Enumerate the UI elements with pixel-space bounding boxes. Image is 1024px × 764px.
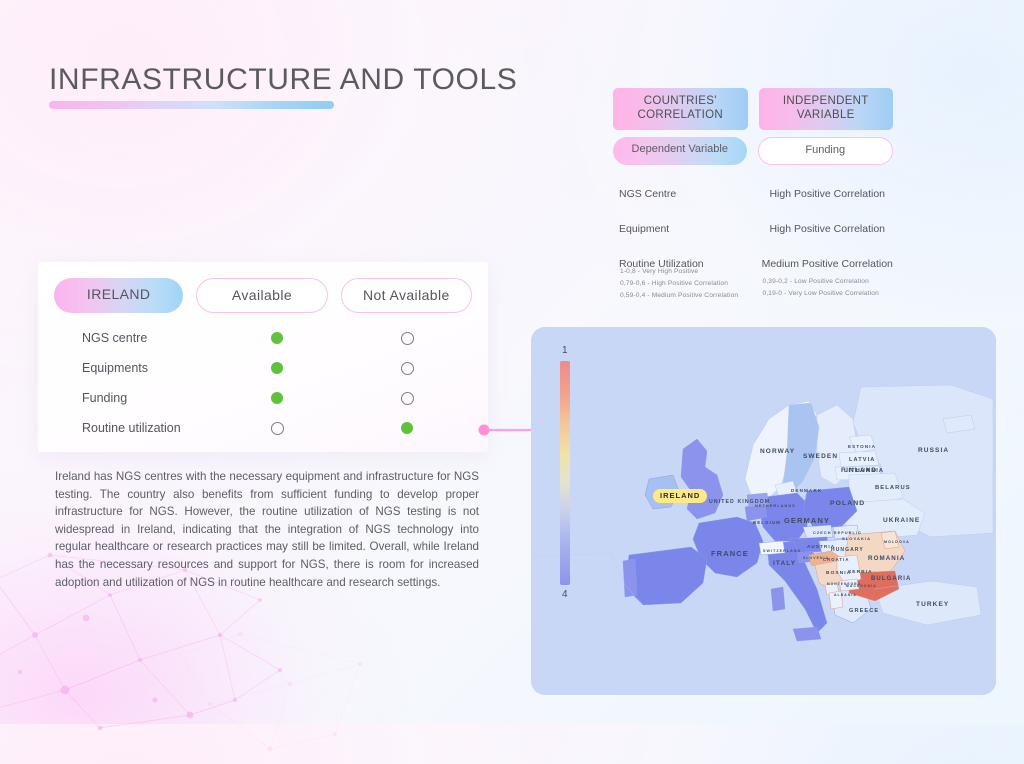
map-label-russia: RUSSIA	[918, 447, 949, 454]
status-dot-filled	[271, 362, 283, 374]
correlation-legend-left-column: 1-0,8 - Very High Positive 0,79-0,6 - Hi…	[620, 266, 753, 303]
status-dot-filled	[401, 422, 413, 434]
correlation-legend-right-column: 0,39-0,2 - Low Positive Correlation 0,19…	[763, 266, 896, 303]
row-label: Funding	[54, 391, 212, 405]
row-dependent-label: Equipment	[613, 223, 751, 235]
map-label-netherlands: NETHERLANDS	[755, 504, 796, 508]
map-label-romania: ROMANIA	[868, 555, 905, 562]
row-label: Routine utilization	[54, 421, 212, 435]
map-label-estonia: ESTONIA	[848, 444, 876, 449]
cell-available	[212, 362, 342, 374]
map-label-greece: GREECE	[849, 608, 879, 614]
map-label-belgium: BELGIUM	[753, 520, 781, 525]
table-row: NGS centre	[54, 323, 472, 353]
table-row: NGS Centre High Positive Correlation	[613, 176, 893, 211]
status-dot-empty	[401, 392, 414, 405]
map-label-switzerland: SWITZERLAND	[763, 549, 801, 553]
correlation-table-subheader: Dependent Variable Funding	[613, 137, 893, 165]
row-independent-value: High Positive Correlation	[762, 188, 894, 201]
table-row: Routine utilization	[54, 413, 472, 443]
map-label-italy: ITALY	[773, 560, 796, 567]
subheader-dependent-variable: Dependent Variable	[613, 137, 747, 165]
legend-item: 0,19-0 - Very Low Positive Correlation	[763, 288, 896, 300]
cell-available	[212, 392, 342, 404]
ireland-card-header: IRELAND Available Not Available	[38, 262, 488, 313]
map-label-belarus: BELARUS	[875, 485, 911, 491]
map-highlight-ireland[interactable]: IRELAND	[653, 489, 707, 503]
map-label-sweden: SWEDEN	[803, 453, 838, 460]
map-label-bulgaria: BULGARIA	[871, 576, 911, 582]
cell-not-available	[342, 362, 472, 375]
europe-map[interactable]	[531, 327, 996, 695]
header-independent-variable: INDEPENDENT VARIABLE	[759, 88, 894, 130]
map-label-albania: ALBANIA	[834, 593, 857, 597]
map-label-latvia: LATVIA	[849, 457, 875, 463]
map-label-turkey: TURKEY	[916, 601, 949, 608]
map-label-lithuania: LITHUANIA	[844, 468, 884, 474]
map-label-denmark: DENMARK	[791, 488, 822, 493]
map-label-poland: POLAND	[830, 500, 865, 507]
description-paragraph: Ireland has NGS centres with the necessa…	[55, 468, 479, 591]
status-dot-filled	[271, 392, 283, 404]
row-dependent-label: NGS Centre	[613, 188, 751, 200]
map-label-croatia: CROATIA	[823, 557, 849, 562]
header-countries-correlation: COUNTRIES' CORRELATION	[613, 88, 748, 130]
cell-not-available	[342, 392, 472, 405]
colorbar-max-label: 1	[562, 345, 568, 356]
map-label-ukraine: UKRAINE	[883, 517, 920, 524]
map-label-moldova: MOLDOVA	[884, 540, 910, 544]
map-label-czech-republic: CZECH REPUBLIC	[813, 531, 862, 535]
map-label-france: FRANCE	[711, 549, 749, 558]
status-dot-empty	[401, 362, 414, 375]
table-row: Equipment High Positive Correlation	[613, 211, 893, 246]
page-title: INFRASTRUCTURE AND TOOLS	[49, 63, 517, 97]
header-available: Available	[196, 278, 327, 313]
header-not-available: Not Available	[341, 278, 472, 313]
map-label-serbia: SERBIA	[848, 570, 873, 575]
colorbar-min-label: 4	[562, 589, 568, 600]
subheader-funding: Funding	[758, 137, 894, 165]
correlation-table-header: COUNTRIES' CORRELATION INDEPENDENT VARIA…	[613, 88, 893, 130]
row-label: NGS centre	[54, 331, 212, 345]
status-dot-filled	[271, 332, 283, 344]
legend-item: 0,59-0,4 - Medium Positive Correlation	[620, 290, 753, 302]
legend-item: 0,79-0,6 - High Positive Correlation	[620, 278, 753, 290]
map-label-slovakia: SLOVAKIA	[842, 536, 871, 541]
status-dot-empty	[271, 422, 284, 435]
europe-map-panel[interactable]: 1 4 IRELAND SWEDENFINLANDNORWAYESTONIALA…	[531, 327, 996, 695]
correlation-table: COUNTRIES' CORRELATION INDEPENDENT VARIA…	[613, 88, 893, 281]
correlation-legend: 1-0,8 - Very High Positive 0,79-0,6 - Hi…	[620, 266, 895, 303]
row-independent-value: High Positive Correlation	[762, 223, 894, 236]
cell-available	[212, 332, 342, 344]
row-label: Equipments	[54, 361, 212, 375]
header-ireland: IRELAND	[54, 278, 183, 313]
map-label-germany: GERMANY	[784, 516, 830, 525]
table-row: Equipments	[54, 353, 472, 383]
map-colorbar	[560, 361, 570, 585]
legend-item: 0,39-0,2 - Low Positive Correlation	[763, 276, 896, 288]
map-label-norway: NORWAY	[760, 448, 795, 455]
legend-item: 1-0,8 - Very High Positive	[620, 266, 753, 278]
table-row: Funding	[54, 383, 472, 413]
map-label-macedonia: MACEDONIA	[846, 584, 877, 588]
cell-not-available	[342, 332, 472, 345]
network-decoration-secondary	[170, 624, 370, 764]
ireland-availability-card: IRELAND Available Not Available NGS cent…	[38, 262, 488, 452]
cell-not-available	[342, 422, 472, 434]
ireland-card-body: NGS centre Equipments Funding Routine ut…	[38, 313, 488, 443]
map-label-hungary: HUNGARY	[831, 547, 864, 553]
status-dot-empty	[401, 332, 414, 345]
title-underline-rule	[49, 101, 334, 109]
cell-available	[212, 422, 342, 435]
